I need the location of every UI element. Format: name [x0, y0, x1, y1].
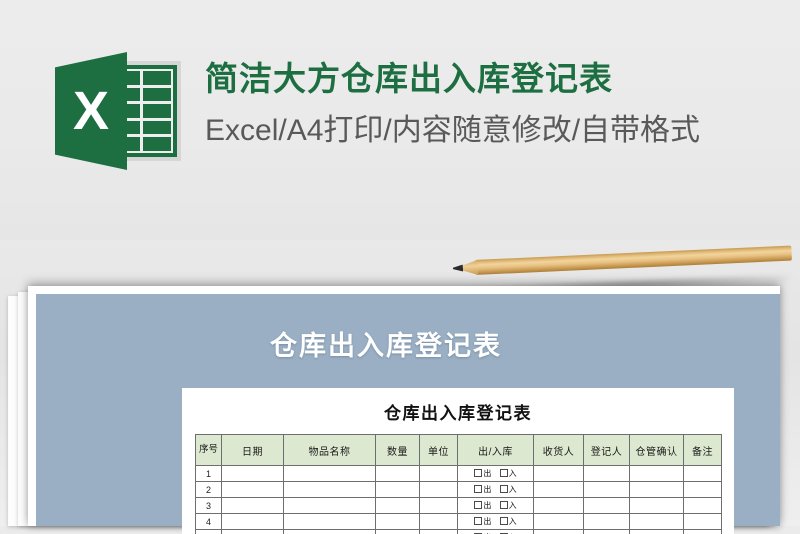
cell-unit[interactable] — [420, 466, 458, 482]
cell-quantity[interactable] — [376, 514, 420, 530]
checkbox-out-label: 出 — [483, 469, 491, 478]
cell-warehouse-confirm[interactable] — [630, 498, 684, 514]
cell-quantity[interactable] — [376, 498, 420, 514]
cell-in-out[interactable]: 出 入 — [458, 514, 534, 530]
document-blue-panel: 仓库出入库登记表 仓库出入库登记表 序号 日期 物品名称 数量 单位 出/ — [36, 294, 780, 526]
checkbox-in-label: 入 — [509, 517, 517, 526]
table-row: 5 出 入 — [196, 530, 722, 534]
cell-receiver[interactable] — [534, 466, 584, 482]
document-heading: 仓库出入库登记表 — [36, 324, 736, 363]
cell-quantity[interactable] — [376, 466, 420, 482]
column-header-quantity: 数量 — [376, 435, 420, 466]
checkbox-out-icon[interactable] — [474, 469, 482, 477]
checkbox-in-icon[interactable] — [500, 469, 508, 477]
row-seq: 3 — [196, 498, 222, 514]
checkbox-in-label: 入 — [509, 469, 517, 478]
column-header-in-out: 出/入库 — [458, 435, 534, 466]
cell-registrar[interactable] — [584, 482, 630, 498]
cell-date[interactable] — [222, 482, 284, 498]
checkbox-out-icon[interactable] — [474, 501, 482, 509]
row-seq: 1 — [196, 466, 222, 482]
table-body: 1 出 入 2 — [196, 466, 722, 534]
column-header-registrar: 登记人 — [584, 435, 630, 466]
checkbox-out-label: 出 — [483, 517, 491, 526]
checkbox-in-label: 入 — [509, 485, 517, 494]
column-header-receiver: 收货人 — [534, 435, 584, 466]
cell-date[interactable] — [222, 466, 284, 482]
excel-logo-grid-cell — [143, 104, 172, 118]
cell-item-name[interactable] — [284, 466, 376, 482]
cell-unit[interactable] — [420, 530, 458, 534]
cell-registrar[interactable] — [584, 466, 630, 482]
cell-item-name[interactable] — [284, 498, 376, 514]
excel-logo-letter: X — [55, 52, 127, 170]
cell-item-name[interactable] — [284, 514, 376, 530]
excel-logo-grid-cell — [143, 71, 172, 85]
checkbox-in-option[interactable]: 入 — [500, 516, 517, 527]
cell-date[interactable] — [222, 530, 284, 534]
promo-content: X 简洁大方仓库出入库登记表 Excel/A4打印/内容随意修改/自带格式 — [55, 52, 700, 170]
cell-note[interactable] — [684, 530, 722, 534]
checkbox-out-icon[interactable] — [474, 485, 482, 493]
promo-title: 简洁大方仓库出入库登记表 — [205, 58, 700, 99]
column-header-unit: 单位 — [420, 435, 458, 466]
cell-unit[interactable] — [420, 514, 458, 530]
cell-date[interactable] — [222, 498, 284, 514]
cell-item-name[interactable] — [284, 530, 376, 534]
cell-receiver[interactable] — [534, 482, 584, 498]
cell-item-name[interactable] — [284, 482, 376, 498]
table-row: 1 出 入 — [196, 466, 722, 482]
checkbox-out-label: 出 — [483, 501, 491, 510]
promo-text-block: 简洁大方仓库出入库登记表 Excel/A4打印/内容随意修改/自带格式 — [205, 52, 700, 149]
cell-registrar[interactable] — [584, 530, 630, 534]
table-row: 4 出 入 — [196, 514, 722, 530]
cell-receiver[interactable] — [534, 498, 584, 514]
row-seq: 4 — [196, 514, 222, 530]
cell-quantity[interactable] — [376, 530, 420, 534]
checkbox-out-icon[interactable] — [474, 517, 482, 525]
cell-registrar[interactable] — [584, 498, 630, 514]
row-seq: 2 — [196, 482, 222, 498]
cell-note[interactable] — [684, 466, 722, 482]
checkbox-in-icon[interactable] — [500, 485, 508, 493]
excel-logo-grid-cell — [143, 88, 172, 102]
cell-unit[interactable] — [420, 498, 458, 514]
cell-registrar[interactable] — [584, 514, 630, 530]
cell-in-out[interactable]: 出 入 — [458, 466, 534, 482]
cell-in-out[interactable]: 出 入 — [458, 530, 534, 534]
checkbox-out-option[interactable]: 出 — [474, 484, 491, 495]
table-row: 2 出 入 — [196, 482, 722, 498]
column-header-date: 日期 — [222, 435, 284, 466]
checkbox-in-option[interactable]: 入 — [500, 484, 517, 495]
checkbox-in-option[interactable]: 入 — [500, 500, 517, 511]
checkbox-out-option[interactable]: 出 — [474, 468, 491, 479]
cell-receiver[interactable] — [534, 530, 584, 534]
cell-date[interactable] — [222, 514, 284, 530]
register-table: 序号 日期 物品名称 数量 单位 出/入库 收货人 登记人 仓管确认 备注 1 — [195, 434, 722, 534]
cell-note[interactable] — [684, 514, 722, 530]
excel-logo: X — [55, 52, 183, 170]
checkbox-out-option[interactable]: 出 — [474, 500, 491, 511]
checkbox-out-option[interactable]: 出 — [474, 516, 491, 527]
promo-subtitle: Excel/A4打印/内容随意修改/自带格式 — [205, 113, 700, 149]
cell-quantity[interactable] — [376, 482, 420, 498]
cell-in-out[interactable]: 出 入 — [458, 482, 534, 498]
column-header-item-name: 物品名称 — [284, 435, 376, 466]
worksheet-title: 仓库出入库登记表 — [182, 399, 734, 424]
table-row: 3 出 入 — [196, 498, 722, 514]
document-page: 仓库出入库登记表 仓库出入库登记表 序号 日期 物品名称 数量 单位 出/ — [28, 286, 780, 526]
column-header-note: 备注 — [684, 435, 722, 466]
excel-logo-grid-cell — [143, 137, 172, 151]
table-header-row: 序号 日期 物品名称 数量 单位 出/入库 收货人 登记人 仓管确认 备注 — [196, 435, 722, 466]
promo-banner: X 简洁大方仓库出入库登记表 Excel/A4打印/内容随意修改/自带格式 — [0, 0, 800, 240]
row-seq: 5 — [196, 530, 222, 534]
cell-in-out[interactable]: 出 入 — [458, 498, 534, 514]
cell-note[interactable] — [684, 498, 722, 514]
checkbox-in-icon[interactable] — [500, 517, 508, 525]
cell-warehouse-confirm[interactable] — [630, 482, 684, 498]
cell-warehouse-confirm[interactable] — [630, 514, 684, 530]
checkbox-out-label: 出 — [483, 485, 491, 494]
cell-warehouse-confirm[interactable] — [630, 466, 684, 482]
cell-unit[interactable] — [420, 482, 458, 498]
checkbox-in-option[interactable]: 入 — [500, 468, 517, 479]
column-header-seq: 序号 — [196, 435, 222, 466]
cell-note[interactable] — [684, 482, 722, 498]
checkbox-in-icon[interactable] — [500, 501, 508, 509]
pencil-graphite-tip — [453, 265, 463, 272]
cell-warehouse-confirm[interactable] — [630, 530, 684, 534]
column-header-warehouse-confirm: 仓管确认 — [630, 435, 684, 466]
cell-receiver[interactable] — [534, 514, 584, 530]
worksheet: 仓库出入库登记表 序号 日期 物品名称 数量 单位 出/入库 收货人 — [182, 388, 734, 534]
checkbox-in-label: 入 — [509, 501, 517, 510]
excel-logo-grid-cell — [143, 121, 172, 135]
